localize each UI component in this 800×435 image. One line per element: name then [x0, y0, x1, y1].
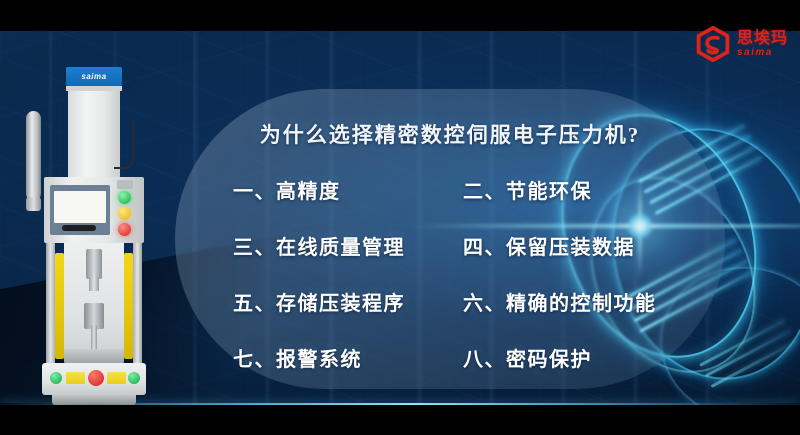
start-button-left [50, 372, 62, 384]
saima-hexagon-icon [695, 26, 731, 62]
slide-canvas: 为什么选择精密数控伺服电子压力机? 一、高精度 二、节能环保 三、在线质量管理 … [0, 0, 800, 435]
machine-ram [86, 249, 102, 279]
feature-item-6: 六、精确的控制功能 [463, 287, 657, 316]
machine-frame-right [133, 243, 142, 367]
feature-item-4: 四、保留压装数据 [463, 231, 635, 260]
slide-background: 为什么选择精密数控伺服电子压力机? 一、高精度 二、节能环保 三、在线质量管理 … [0, 31, 800, 405]
press-machine-illustration: saima [18, 67, 168, 405]
indicator-lamp-red [118, 223, 131, 236]
logo-latin-name: saima [737, 48, 788, 58]
machine-column [68, 91, 120, 181]
warning-label-right [107, 372, 126, 384]
slide-text-block: 为什么选择精密数控伺服电子压力机? 一、高精度 二、节能环保 三、在线质量管理 … [175, 89, 725, 389]
indicator-lamp-green [118, 191, 131, 204]
page-title: 为什么选择精密数控伺服电子压力机? [175, 119, 725, 149]
hmi-screen [54, 191, 106, 223]
feature-item-7: 七、报警系统 [233, 343, 362, 372]
logo-chinese-name: 思埃玛 [737, 30, 788, 46]
letterbox-top [0, 0, 800, 31]
feature-row: 七、报警系统 八、密码保护 [175, 343, 725, 389]
machine-badge-text: saima [81, 72, 106, 81]
light-curtain-left [55, 253, 64, 359]
machine-cable [114, 119, 134, 169]
machine-cylinder [26, 111, 41, 201]
company-logo: 思埃玛 saima [695, 26, 788, 62]
feature-item-2: 二、节能环保 [463, 175, 592, 204]
machine-frame-left [46, 243, 55, 367]
feature-item-5: 五、存储压装程序 [233, 287, 405, 316]
hmi-screen-bar [62, 225, 96, 231]
machine-worktable [64, 349, 124, 363]
machine-brand-badge: saima [66, 67, 122, 86]
feature-row: 三、在线质量管理 四、保留压装数据 [175, 231, 725, 277]
machine-cylinder-base [26, 197, 41, 211]
light-curtain-right [124, 253, 133, 359]
feature-row: 五、存储压装程序 六、精确的控制功能 [175, 287, 725, 333]
letterbox-bottom [0, 405, 800, 435]
machine-ram-tip [89, 277, 99, 291]
indicator-lamp-yellow [118, 207, 131, 220]
feature-row: 一、高精度 二、节能环保 [175, 175, 725, 221]
feature-item-1: 一、高精度 [233, 175, 341, 204]
start-button-right [128, 372, 140, 384]
feature-item-8: 八、密码保护 [463, 343, 592, 372]
emergency-stop-button [88, 370, 104, 386]
logo-wordmark: 思埃玛 saima [737, 30, 788, 58]
warning-label-left [66, 372, 85, 384]
machine-switch-row [117, 180, 133, 189]
machine-shaft [91, 325, 97, 351]
feature-item-3: 三、在线质量管理 [233, 231, 405, 260]
